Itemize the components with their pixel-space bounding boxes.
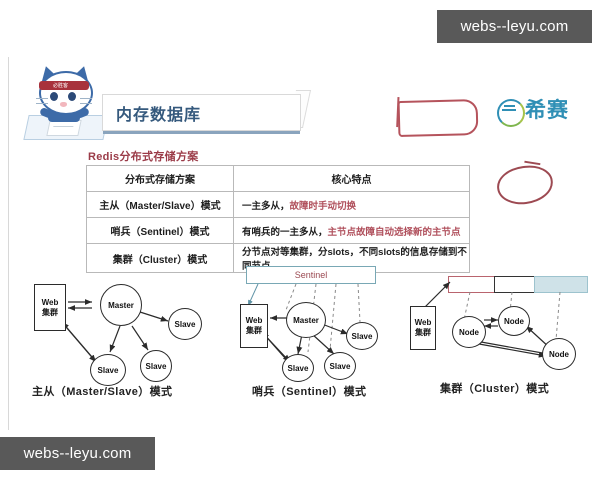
cell-scheme: 哨兵（Sentinel）模式 <box>87 218 234 244</box>
node-slave: Slave <box>282 354 314 382</box>
feature-highlight: 主节点故障自动选择新的主节点 <box>328 227 461 238</box>
watermark-top: webs--leyu.com <box>437 10 592 43</box>
e-circle-icon <box>497 99 525 127</box>
nose-icon <box>60 102 67 107</box>
watermark-bottom: webs--leyu.com <box>0 437 155 470</box>
section-title: Redis分布式存储方案 <box>88 148 199 164</box>
red-rectangle-annotation <box>398 99 479 137</box>
diagram-sentinel: Sentinel Web 集群 Master Slave Slave Slave… <box>236 266 416 396</box>
node-cluster: Node <box>542 338 576 370</box>
headband-icon: 必胜客 <box>39 81 89 90</box>
cell-scheme: 集群（Cluster）模式 <box>87 244 234 273</box>
web-label-line1: Web <box>246 316 263 326</box>
node-cluster: Node <box>452 316 486 348</box>
feature-highlight: 故障时手动切换 <box>290 201 357 212</box>
whisker <box>80 98 92 99</box>
whisker <box>36 98 48 99</box>
whisker <box>36 103 48 104</box>
logo-text: 希赛 <box>525 97 569 125</box>
diagram-caption: 哨兵（Sentinel）模式 <box>252 383 366 399</box>
table-row: 主从（Master/Slave）模式 一主多从，故障时手动切换 <box>87 192 470 218</box>
diagram-caption: 集群（Cluster）模式 <box>440 380 549 396</box>
cell-scheme: 主从（Master/Slave）模式 <box>87 192 234 218</box>
eye-right-icon <box>68 92 76 101</box>
cell-feature: 一主多从，故障时手动切换 <box>234 192 470 218</box>
storage-schemes-table: 分布式存储方案 核心特点 主从（Master/Slave）模式 一主多从，故障时… <box>86 165 470 273</box>
table-header-row: 分布式存储方案 核心特点 <box>87 166 470 192</box>
feature-plain: 有哨兵的一主多从， <box>242 227 328 238</box>
eye-left-icon <box>50 92 58 101</box>
node-slave: Slave <box>346 322 378 350</box>
node-slave: Slave <box>90 354 126 386</box>
diagram-caption: 主从（Master/Slave）模式 <box>32 383 172 399</box>
web-label-line2: 集群 <box>42 308 58 318</box>
node-master: Master <box>100 284 142 326</box>
cat-mascot-icon: 必胜客 <box>24 62 106 142</box>
xisai-logo: 希赛 <box>497 97 581 127</box>
whisker <box>80 103 92 104</box>
column-header-feature: 核心特点 <box>234 166 470 192</box>
e-bar-upper-icon <box>504 105 515 107</box>
table-row: 哨兵（Sentinel）模式 有哨兵的一主多从，主节点故障自动选择新的主节点 <box>87 218 470 244</box>
head-shape <box>39 71 93 115</box>
paper-shape <box>46 120 81 136</box>
web-cluster-box: Web 集群 <box>34 284 66 331</box>
node-cluster: Node <box>498 306 530 336</box>
watermark-top-text: webs--leyu.com <box>461 18 569 35</box>
node-slave: Slave <box>168 308 202 340</box>
node-slave: Slave <box>140 350 172 382</box>
web-label-line1: Web <box>415 318 432 328</box>
web-label-line1: Web <box>42 298 59 308</box>
diagram-master-slave: Web 集群 Master Slave Slave Slave 主从（Maste… <box>24 278 224 396</box>
web-label-line2: 集群 <box>415 328 431 338</box>
web-cluster-box: Web 集群 <box>240 304 268 348</box>
cell-feature: 有哨兵的一主多从，主节点故障自动选择新的主节点 <box>234 218 470 244</box>
feature-plain: 一主多从， <box>242 201 290 212</box>
page-title: 内存数据库 <box>116 101 201 125</box>
headband-text: 必胜客 <box>53 82 68 89</box>
e-bar-icon <box>502 109 516 111</box>
node-slave: Slave <box>324 352 356 380</box>
web-cluster-box: Web 集群 <box>410 306 436 350</box>
watermark-bottom-text: webs--leyu.com <box>24 445 132 462</box>
diagram-cluster: Web 集群 Node Node Node 集群（Cluster）模式 <box>406 276 596 396</box>
column-header-scheme: 分布式存储方案 <box>87 166 234 192</box>
node-master: Master <box>286 302 326 338</box>
web-label-line2: 集群 <box>246 326 262 336</box>
